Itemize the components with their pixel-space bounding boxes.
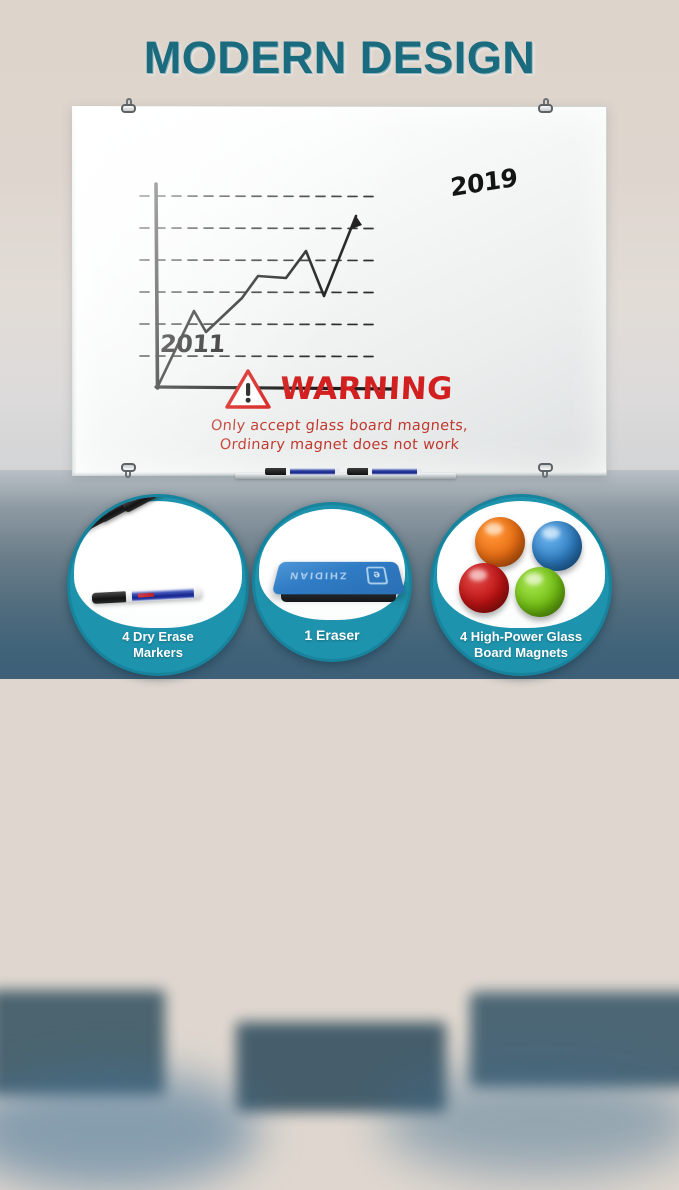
product-infographic: MODERN DESIGN 2011 20 [0,0,679,679]
card-photo-area: ZHIDIAN e [259,509,405,620]
accessory-cards: 4 Dry Erase Markers 4 Dry Erase Markers … [0,484,679,679]
eraser-brand-text: ZHIDIAN [287,570,346,581]
card-photo-area [74,501,242,628]
marker-tray [235,473,456,479]
warning-heading: WARNING [280,371,455,407]
magnet-orange [475,517,525,567]
card-magnets: 4 High-Power Glass Board Magnets 4 High-… [430,494,612,676]
card-label: 4 High-Power Glass Board Magnets [439,629,603,661]
brand-logo-icon: e [366,567,389,585]
card-label-line1: 1 Eraser [261,627,403,643]
card-label-full: 4 Dry Erase Markers [67,494,68,495]
chart-y-axis [156,184,158,388]
card-label-line2: Board Magnets [439,645,603,661]
eraser-body: ZHIDIAN e [272,562,406,594]
whiteboard-eraser: ZHIDIAN e [276,559,401,611]
card-label-full: 1 Eraser [252,502,253,503]
tray-marker [347,468,422,475]
glass-whiteboard: 2011 2019 WARNING Only accept glass boar… [72,106,607,476]
mounting-clip-icon [120,100,137,113]
chart-line-series [158,216,356,386]
card-disc: ZHIDIAN e 1 Eraser [252,502,412,662]
warning-notice: WARNING Only accept glass board magnets,… [72,368,607,455]
mounting-clip-icon [537,463,554,476]
dry-erase-marker [92,587,202,604]
warning-triangle-icon [225,368,271,410]
magnet-blue [532,521,582,571]
card-label-line1: 4 Dry Erase [76,629,240,645]
card-disc: 4 Dry Erase Markers [67,494,249,676]
card-eraser: ZHIDIAN e 1 Eraser 1 Eraser [252,502,412,662]
mounting-clip-icon [120,463,137,476]
card-label-line1: 4 High-Power Glass [439,629,603,645]
card-label: 4 Dry Erase Markers [76,629,240,661]
magnet-red [459,563,509,613]
background-glow-left [0,1070,260,1190]
card-markers: 4 Dry Erase Markers 4 Dry Erase Markers [67,494,249,676]
card-label-full: 4 High-Power Glass Board Magnets [430,494,431,495]
warning-text: Only accept glass board magnets, Ordinar… [72,417,607,455]
card-photo-area [437,501,605,628]
tray-marker [265,468,340,475]
warning-line-1: Only accept glass board magnets, [71,417,607,436]
magnet-green [515,567,565,617]
warning-heading-row: WARNING [72,368,607,410]
warning-line-2: Ordinary magnet does not work [71,436,607,455]
dry-erase-marker [121,494,223,513]
card-label-line2: Markers [76,645,240,661]
chart-start-label: 2011 [159,330,226,358]
background-glow-right [380,1066,679,1176]
page-title: MODERN DESIGN [0,32,679,84]
mounting-clip-icon [537,100,554,113]
card-label: 1 Eraser [261,627,403,643]
card-disc: 4 High-Power Glass Board Magnets [430,494,612,676]
